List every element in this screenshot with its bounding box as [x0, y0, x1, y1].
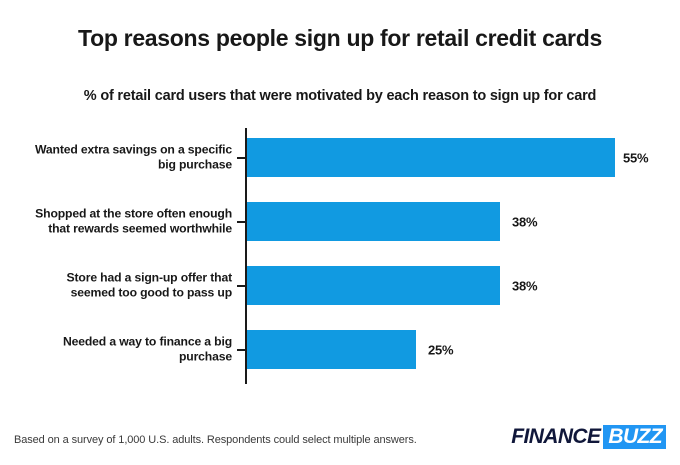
bar-segment	[247, 202, 500, 241]
chart-canvas: Top reasons people sign up for retail cr…	[0, 0, 680, 465]
bar-value-label: 38%	[512, 214, 537, 229]
bar-category-label-line2: seemed too good to pass up	[71, 286, 232, 300]
bar-category-label: Needed a way to finance a big purchase	[0, 334, 232, 365]
y-axis-tick	[237, 285, 246, 287]
bar-category-label: Wanted extra savings on a specific big p…	[0, 142, 232, 173]
bar-category-label: Store had a sign-up offer that seemed to…	[0, 270, 232, 301]
bar-category-label-line1: Shopped at the store often enough	[35, 206, 232, 220]
page-title: Top reasons people sign up for retail cr…	[0, 25, 680, 52]
bar-segment	[247, 266, 500, 305]
bar-row: Needed a way to finance a big purchase 2…	[0, 330, 680, 369]
financebuzz-logo: FINANCE BUZZ	[511, 425, 666, 449]
bar-category-label-line1: Store had a sign-up offer that	[67, 270, 232, 284]
y-axis-tick	[237, 157, 246, 159]
bar-segment	[247, 138, 615, 177]
bar-category-label-line1: Needed a way to finance a big	[63, 334, 232, 348]
bar-value-label: 38%	[512, 278, 537, 293]
chart-subtitle: % of retail card users that were motivat…	[0, 88, 680, 104]
plot-area: Wanted extra savings on a specific big p…	[0, 126, 680, 386]
logo-finance-text: FINANCE	[511, 425, 600, 449]
logo-buzz-text: BUZZ	[603, 425, 666, 449]
bar-category-label: Shopped at the store often enough that r…	[0, 206, 232, 237]
source-note: Based on a survey of 1,000 U.S. adults. …	[14, 434, 417, 446]
bar-row: Wanted extra savings on a specific big p…	[0, 138, 680, 177]
bar-segment	[247, 330, 416, 369]
bar-category-label-line2: that rewards seemed worthwhile	[48, 222, 232, 236]
bar-category-label-line2: big purchase	[158, 158, 232, 172]
y-axis-tick	[237, 221, 246, 223]
bar-category-label-line2: purchase	[179, 350, 232, 364]
bar-value-label: 25%	[428, 342, 453, 357]
y-axis-tick	[237, 349, 246, 351]
bar-category-label-line1: Wanted extra savings on a specific	[35, 142, 232, 156]
bar-value-label: 55%	[623, 150, 648, 165]
bar-row: Shopped at the store often enough that r…	[0, 202, 680, 241]
bar-row: Store had a sign-up offer that seemed to…	[0, 266, 680, 305]
